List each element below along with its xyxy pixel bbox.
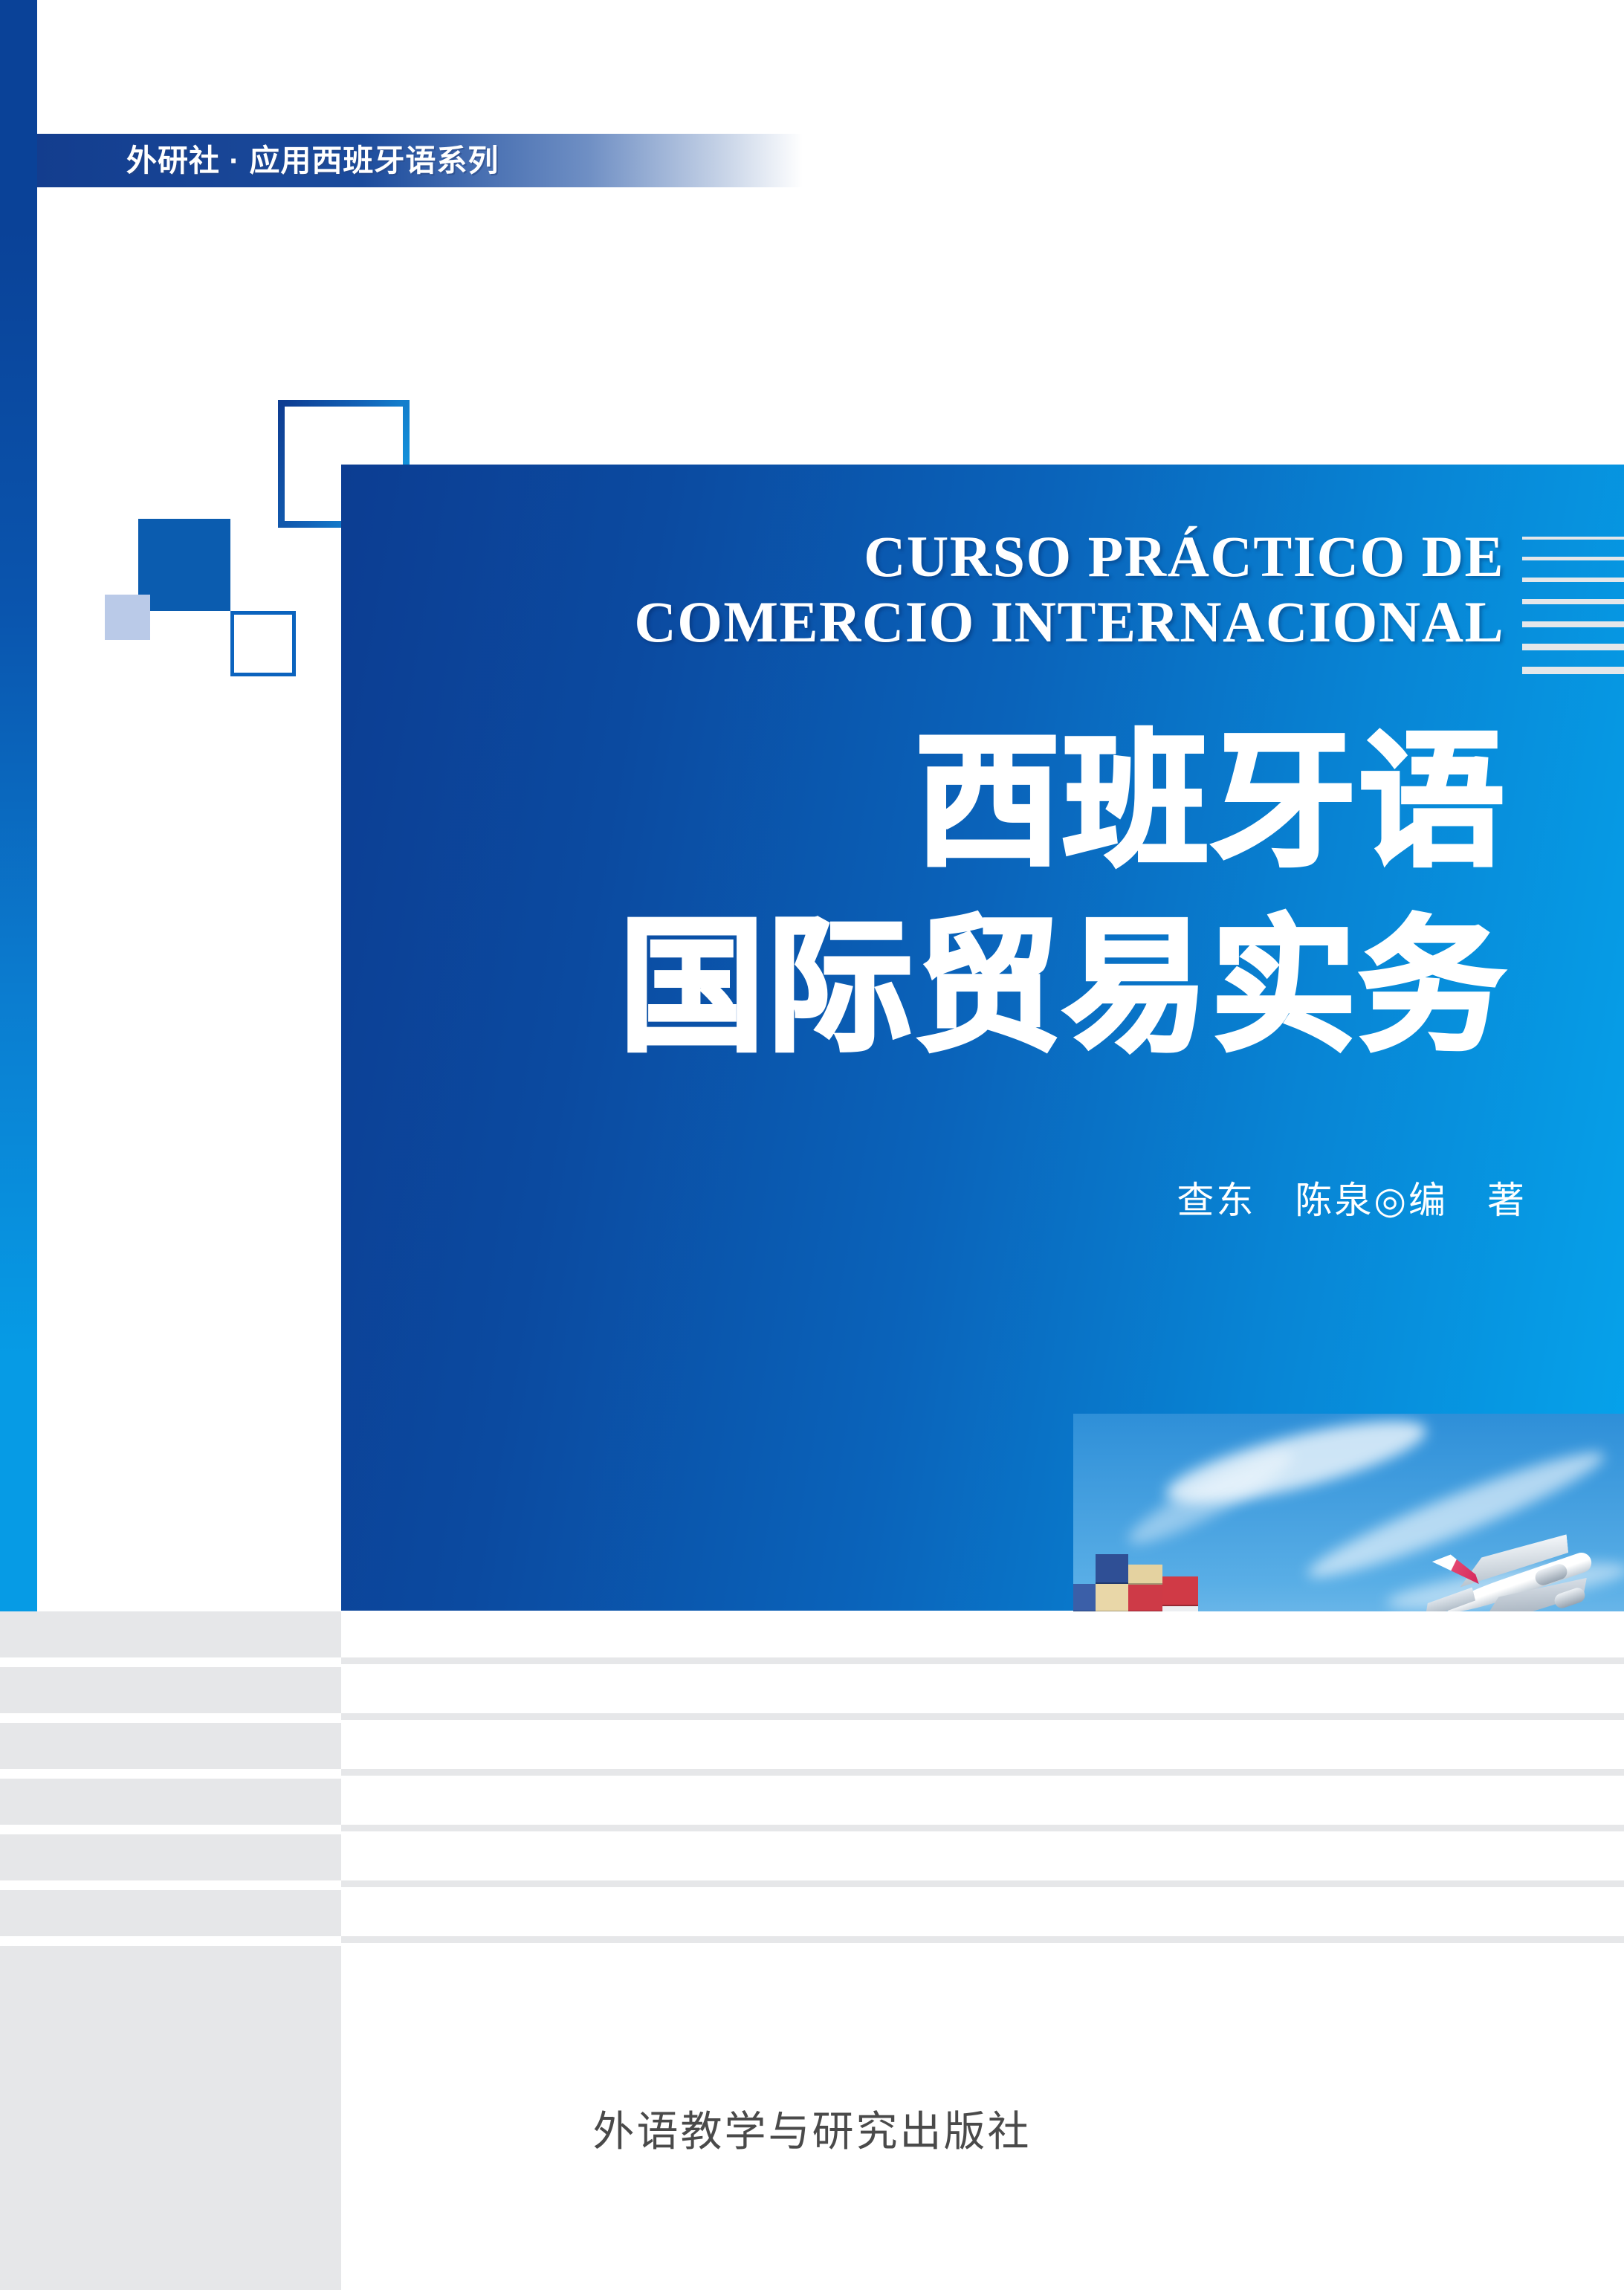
shipping-container bbox=[1073, 1584, 1096, 1612]
publisher-name: 外语教学与研究出版社 bbox=[0, 2098, 1624, 2158]
shipping-container bbox=[1096, 1584, 1128, 1612]
ornament-line bbox=[1522, 621, 1624, 627]
decor-square-outline-small bbox=[230, 611, 296, 676]
stripe-bar bbox=[0, 1611, 341, 1657]
stripe-rule bbox=[341, 1825, 1624, 1831]
chinese-title-line-1: 西班牙语 bbox=[341, 710, 1507, 895]
stripe-rule bbox=[341, 1936, 1624, 1943]
stripe-bar bbox=[0, 1834, 341, 1880]
shipping-container bbox=[1162, 1576, 1198, 1606]
series-banner-label: 外研社 · 应用西班牙语系列 bbox=[126, 140, 499, 181]
book-cover: 外研社 · 应用西班牙语系列 CURSO PRÁCTICO DE COMERCI… bbox=[0, 0, 1624, 2290]
chinese-title-line-2: 国际贸易实务 bbox=[341, 895, 1507, 1080]
author-byline: 查东 陈泉◎编 著 bbox=[341, 1171, 1527, 1224]
ornament-line bbox=[1522, 578, 1624, 582]
bottom-stripe-band bbox=[0, 1611, 1624, 2290]
horizontal-lines-ornament bbox=[1522, 537, 1624, 674]
stripe-rule bbox=[341, 1657, 1624, 1664]
spine-accent-stripe bbox=[0, 0, 37, 1611]
stripe-rule bbox=[341, 1713, 1624, 1720]
stripe-bar bbox=[0, 1890, 341, 1936]
spanish-title-line-1: CURSO PRÁCTICO DE bbox=[341, 524, 1504, 589]
stripe-bar bbox=[0, 1723, 341, 1769]
stripe-column-left bbox=[0, 1611, 341, 2290]
ornament-line bbox=[1522, 599, 1624, 604]
spanish-title-line-2: COMERCIO INTERNACIONAL bbox=[341, 589, 1504, 655]
ornament-line bbox=[1522, 667, 1624, 674]
shipping-container bbox=[1128, 1565, 1162, 1585]
stripe-column-right bbox=[341, 1611, 1624, 2290]
ornament-line bbox=[1522, 557, 1624, 560]
stripe-rule bbox=[341, 1769, 1624, 1776]
shipping-container bbox=[1096, 1554, 1128, 1584]
ornament-line bbox=[1522, 644, 1624, 650]
stripe-bar bbox=[0, 1779, 341, 1825]
spanish-title: CURSO PRÁCTICO DE COMERCIO INTERNACIONAL bbox=[341, 524, 1504, 655]
chinese-title: 西班牙语 国际贸易实务 bbox=[341, 710, 1507, 1080]
stripe-rule bbox=[341, 1880, 1624, 1887]
stripe-bar bbox=[0, 1667, 341, 1713]
decor-square-solid-medium bbox=[138, 519, 230, 611]
ornament-line bbox=[1522, 537, 1624, 540]
cloud-wisp bbox=[1121, 1439, 1301, 1556]
decor-square-solid-pale bbox=[105, 595, 150, 640]
shipping-container bbox=[1128, 1585, 1162, 1613]
